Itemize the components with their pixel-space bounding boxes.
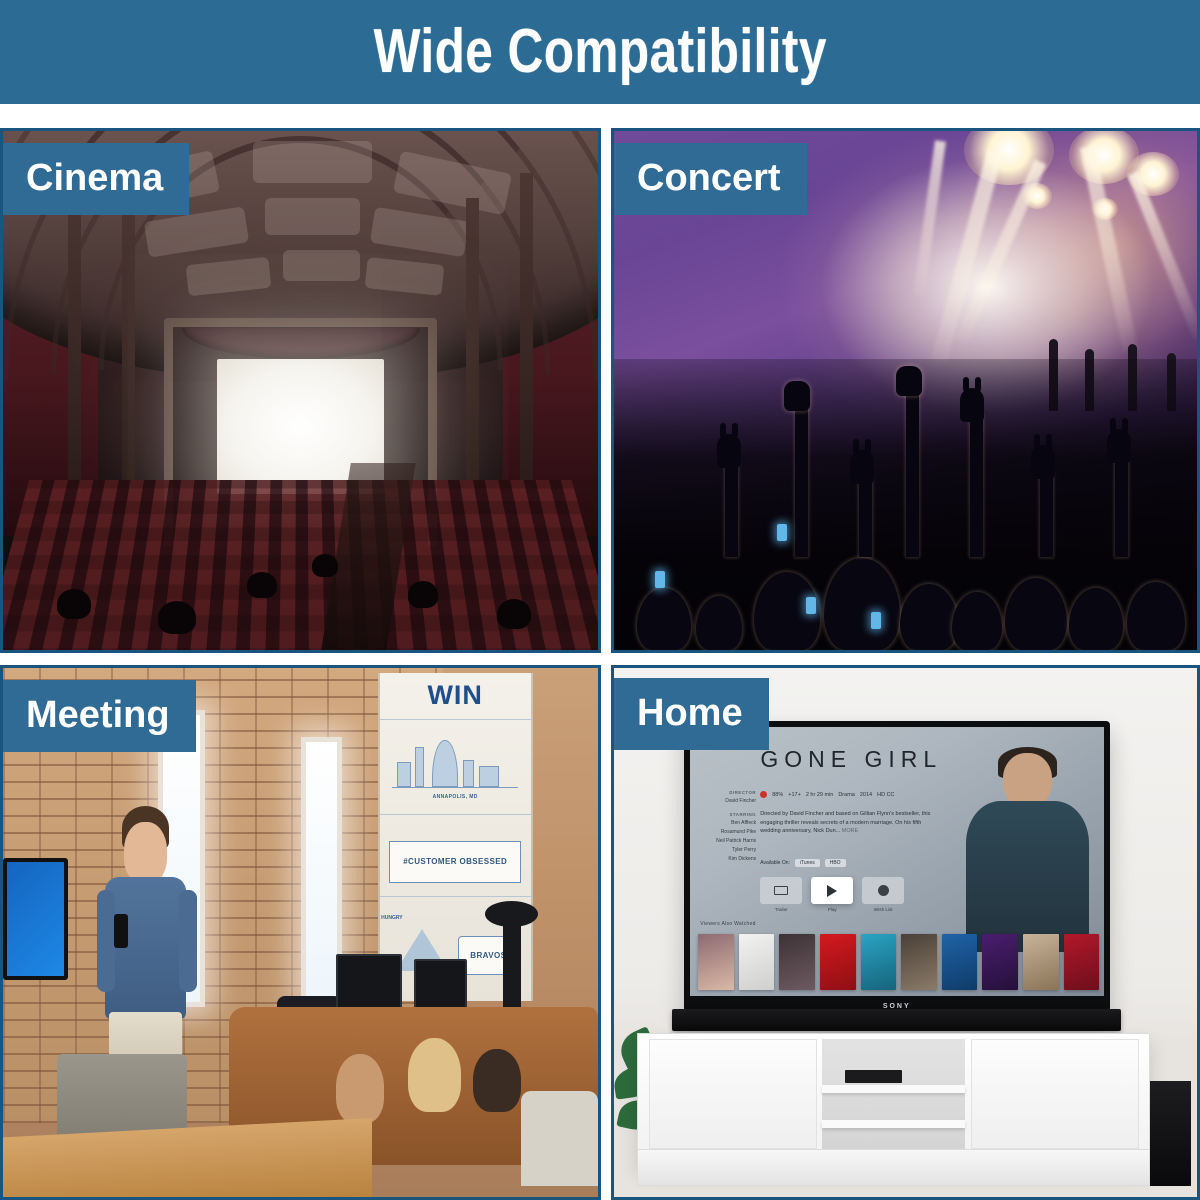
raised-hand <box>717 434 741 468</box>
panel-badge-label: Home <box>637 692 743 734</box>
panel-concert[interactable]: Concert <box>611 128 1200 653</box>
cinema-audience-head <box>312 554 338 577</box>
raised-arm <box>725 458 738 557</box>
cinema-pillar <box>122 198 135 489</box>
trailer-button[interactable] <box>760 877 802 904</box>
presenter-head <box>124 822 167 883</box>
viewer-head <box>408 1038 462 1112</box>
movie-poster[interactable] <box>861 934 897 990</box>
presenter-arm <box>97 890 115 992</box>
movie-poster[interactable] <box>942 934 978 990</box>
mural-hungry-text: HUNGRY <box>378 916 437 921</box>
cinema-ceiling-coffer <box>253 141 372 183</box>
raised-arm <box>859 474 872 557</box>
crowd-head <box>900 584 958 650</box>
media-device <box>845 1070 902 1083</box>
cast-member: Neil Patrick Harris <box>716 838 756 844</box>
panel-home[interactable]: GONE GIRL DIRECTOR David Fincher STARRIN… <box>611 665 1200 1200</box>
raised-hand <box>850 450 874 484</box>
wishlist-button[interactable] <box>862 877 904 904</box>
poster-shelf <box>698 934 1099 990</box>
raised-arm <box>1115 453 1128 557</box>
cabinet-open-compartment <box>822 1039 965 1148</box>
movie-poster[interactable] <box>901 934 937 990</box>
phone-screen-glow <box>655 571 665 588</box>
raised-arm <box>795 401 808 557</box>
crowd-head <box>637 588 691 650</box>
movie-poster[interactable] <box>698 934 734 990</box>
cinema-ceiling-coffer <box>265 198 360 234</box>
movie-synopsis: Directed by David Fincher and based on G… <box>760 810 942 836</box>
cabinet-base <box>637 1149 1150 1186</box>
cinema-audience-head <box>497 599 531 629</box>
phone-screen-glow <box>806 597 816 614</box>
play-button-label: Play <box>811 907 853 912</box>
mural-banner-text: #CUSTOMER OBSESSED <box>403 857 507 866</box>
mural-banner: #CUSTOMER OBSESSED <box>389 841 522 884</box>
crowd-head <box>1127 582 1185 650</box>
movie-poster[interactable] <box>739 934 775 990</box>
media-cabinet <box>637 1033 1150 1165</box>
play-button[interactable] <box>811 877 853 904</box>
header-banner: Wide Compatibility <box>0 0 1200 104</box>
microphone-icon <box>114 914 128 948</box>
panel-badge-concert: Concert <box>611 143 807 215</box>
crowd-head <box>696 596 742 650</box>
movie-poster[interactable] <box>1023 934 1059 990</box>
play-icon <box>827 885 837 897</box>
viewer-shoulder <box>521 1091 598 1186</box>
raised-hand <box>1031 445 1055 479</box>
provider-chip[interactable]: HBO <box>825 859 846 867</box>
panel-meeting[interactable]: WIN ANNAPOLIS, MD #CUSTOMER OBSESS <box>0 665 601 1200</box>
soundbar <box>672 1009 1121 1031</box>
trailer-button-label: Trailer <box>760 907 802 912</box>
panel-badge-cinema: Cinema <box>0 143 189 215</box>
cast-member: Tyler Perry <box>732 847 756 853</box>
cabinet-shelf <box>822 1085 965 1093</box>
cinema-pillar <box>466 198 479 489</box>
cast-member: Rosamund Pike <box>721 829 756 835</box>
crowd-head <box>1069 588 1123 650</box>
movie-badges: HD CC <box>877 792 894 798</box>
movie-poster[interactable] <box>779 934 815 990</box>
panel-badge-meeting: Meeting <box>0 680 196 752</box>
director-name: David Fincher <box>725 798 756 804</box>
light-beam <box>1127 170 1197 338</box>
scene-grid: Cinema <box>0 104 1200 1200</box>
cast-member: Ben Affleck <box>731 820 756 826</box>
movie-poster[interactable] <box>820 934 856 990</box>
product-feature-image: Wide Compatibility <box>0 0 1200 1200</box>
phone-screen-glow <box>777 524 787 541</box>
crowd-head <box>952 592 1002 650</box>
movie-rating: +17+ <box>788 792 801 798</box>
cinema-audience-head <box>408 581 438 608</box>
available-on-label: Available On: <box>760 860 790 866</box>
mural-city-text: ANNAPOLIS, MD <box>380 795 531 800</box>
cabinet-door[interactable] <box>971 1039 1140 1148</box>
cinema-pillar <box>68 173 81 495</box>
raised-fist <box>784 381 810 411</box>
movie-poster[interactable] <box>982 934 1018 990</box>
mural-bravos-text: BRAVOS <box>470 951 506 960</box>
panel-badge-label: Meeting <box>26 694 170 736</box>
viewers-also-watched-label: Viewers Also Watched <box>700 921 755 927</box>
movie-runtime: 2 hr 29 min <box>806 792 834 798</box>
movie-poster[interactable] <box>1064 934 1100 990</box>
light-beam <box>913 141 946 297</box>
cinema-audience-head <box>57 589 91 619</box>
crowd-head <box>824 558 900 650</box>
wishlist-button-label: Wish List <box>862 907 904 912</box>
raised-hand <box>1107 429 1131 463</box>
wall-mounted-display <box>3 858 68 980</box>
starring-label: STARRING <box>698 811 756 819</box>
cinema-pillar <box>520 173 533 495</box>
mural-win-text: WIN <box>380 680 531 711</box>
cinema-audience-head <box>247 572 277 598</box>
raised-arm <box>906 385 919 556</box>
phone-screen-glow <box>871 612 881 629</box>
speaker-tower <box>1150 1081 1191 1187</box>
crowd-head <box>1005 578 1067 650</box>
presenter-arm <box>179 890 197 992</box>
film-icon <box>774 886 788 895</box>
movie-year: 2014 <box>860 792 872 798</box>
page-title: Wide Compatibility <box>373 21 826 83</box>
provider-chip[interactable]: iTunes <box>795 859 820 867</box>
cabinet-door[interactable] <box>649 1039 818 1148</box>
actor-head <box>1003 753 1053 808</box>
tv-screen[interactable]: GONE GIRL DIRECTOR David Fincher STARRIN… <box>690 727 1104 996</box>
presenter-shirt <box>105 877 186 1019</box>
raised-fist <box>896 366 922 396</box>
desk-monitor <box>414 959 468 1012</box>
rating-tomato-icon <box>760 791 767 798</box>
actor-body <box>966 801 1088 952</box>
raised-hand <box>960 388 984 422</box>
cinema-audience-head <box>158 601 196 634</box>
viewer-head <box>336 1054 384 1123</box>
panel-badge-label: Cinema <box>26 157 163 199</box>
panel-badge-home: Home <box>611 678 769 750</box>
director-label: DIRECTOR <box>698 789 756 797</box>
movie-genre: Drama <box>838 792 855 798</box>
tv-action-buttons: Trailer Play <box>760 877 904 904</box>
raised-arm <box>970 411 983 556</box>
panel-cinema[interactable]: Cinema <box>0 128 601 653</box>
movie-score: 88% <box>772 792 783 798</box>
available-on-row: Available On: iTunes HBO <box>760 859 845 867</box>
raised-arm <box>1040 468 1053 556</box>
synopsis-more-link[interactable]: MORE <box>842 828 859 834</box>
cast-member: Kim Dickens <box>728 856 756 862</box>
television[interactable]: GONE GIRL DIRECTOR David Fincher STARRIN… <box>684 721 1110 1012</box>
movie-credits: DIRECTOR David Fincher STARRING Ben Affl… <box>698 789 756 864</box>
viewer-head <box>473 1049 521 1112</box>
movie-meta-row: 88% +17+ 2 hr 29 min Drama 2014 HD CC <box>760 791 894 798</box>
cinema-ceiling-coffer <box>283 250 360 281</box>
panel-badge-label: Concert <box>637 157 781 199</box>
plus-circle-icon <box>878 885 889 896</box>
mural-skyline <box>392 736 519 788</box>
cabinet-shelf <box>822 1120 965 1128</box>
